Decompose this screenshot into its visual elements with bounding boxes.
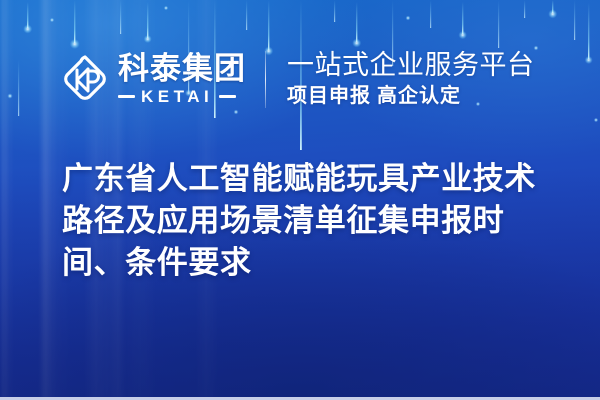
dash-left-icon bbox=[118, 95, 135, 98]
slogan-main-text: 一站式企业服务平台 bbox=[287, 51, 535, 81]
slogan-block: 一站式企业服务平台 项目申报 高企认定 bbox=[287, 51, 535, 107]
ketai-diamond-monogram-icon bbox=[60, 54, 110, 104]
brand-cn-name: 科泰集团 bbox=[118, 53, 246, 85]
brand-en-row: KETAI bbox=[118, 88, 246, 105]
header-divider bbox=[265, 51, 266, 108]
brand-en-name: KETAI bbox=[141, 88, 213, 105]
brand-wordmark: 科泰集团 KETAI bbox=[118, 53, 246, 105]
page-title: 广东省人工智能赋能玩具产业技术路径及应用场景清单征集申报时间、条件要求 bbox=[62, 158, 558, 284]
brand-logo[interactable]: 科泰集团 KETAI bbox=[60, 53, 246, 105]
dash-right-icon bbox=[219, 95, 236, 98]
slogan-sub-text: 项目申报 高企认定 bbox=[287, 85, 535, 107]
banner-header: 科泰集团 KETAI 一站式企业服务平台 项目申报 高企认定 bbox=[0, 44, 600, 114]
promo-banner: 科泰集团 KETAI 一站式企业服务平台 项目申报 高企认定 广东省人工智能赋能… bbox=[0, 0, 600, 400]
